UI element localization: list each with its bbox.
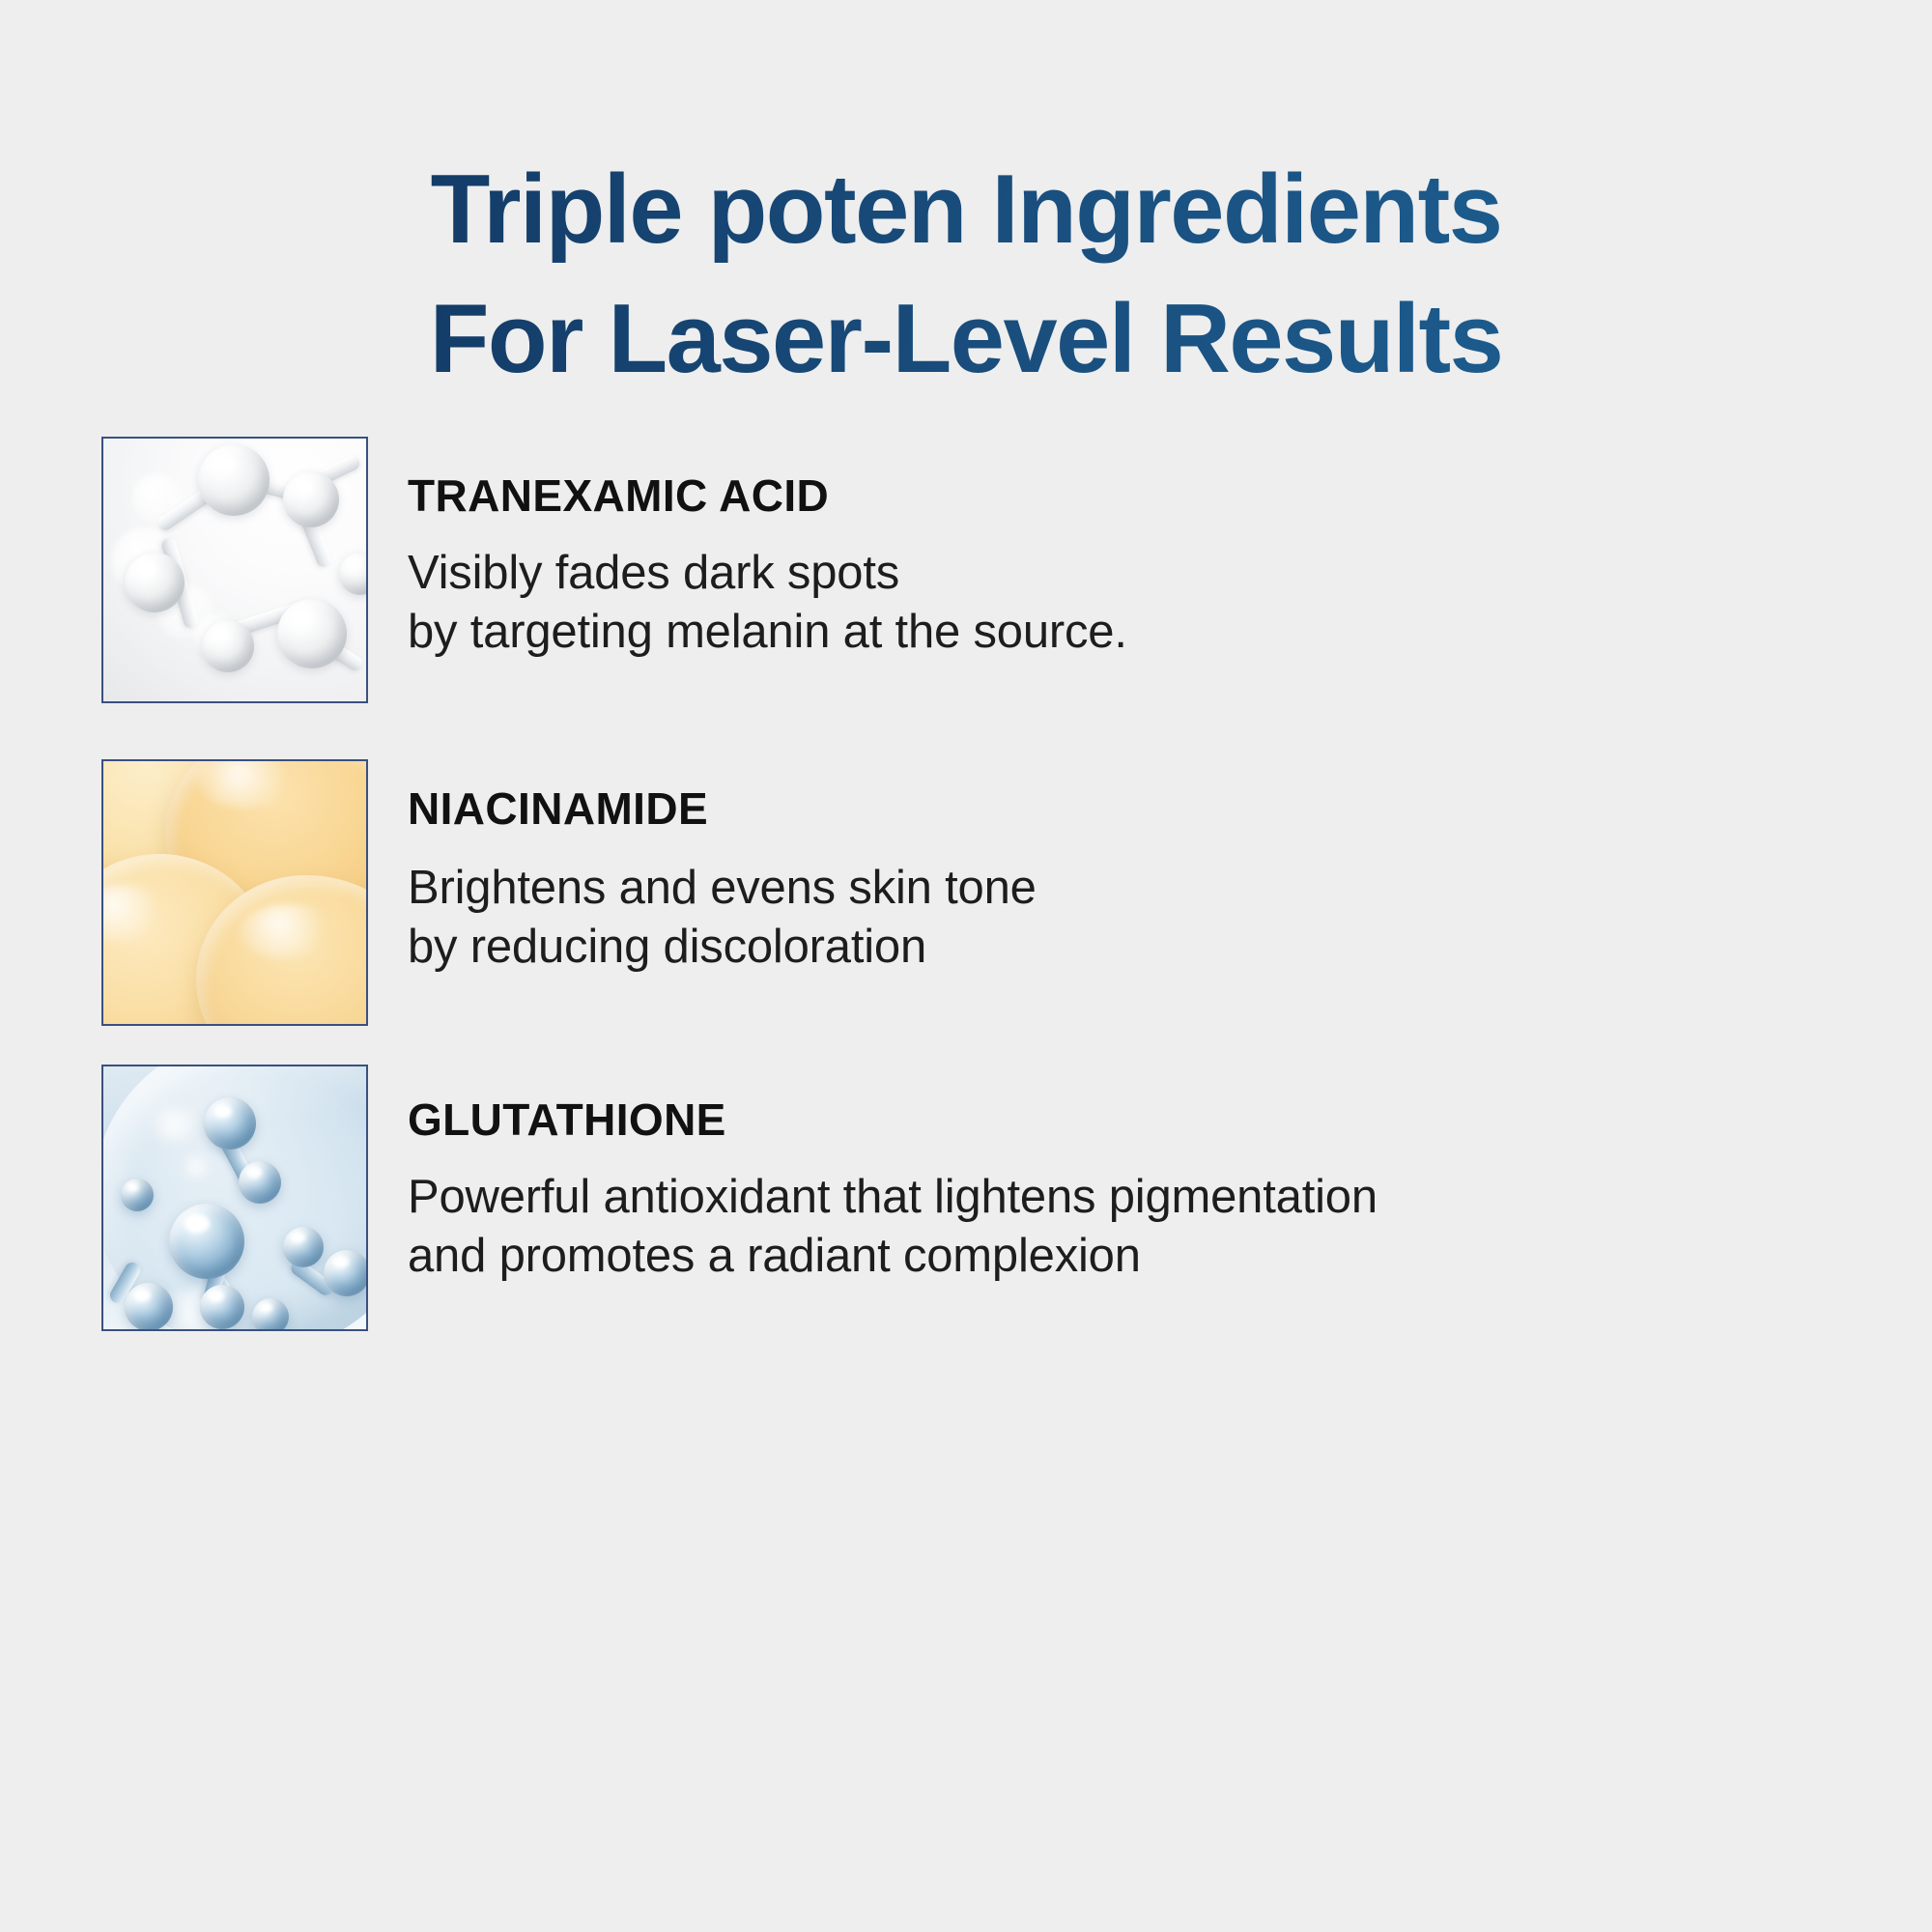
serum-droplets-image bbox=[103, 761, 366, 1024]
ingredient-description: Visibly fades dark spots by targeting me… bbox=[408, 544, 1840, 663]
ingredient-name: TRANEXAMIC ACID bbox=[408, 471, 1840, 521]
ingredient-description: Powerful antioxidant that lightens pigme… bbox=[408, 1168, 1840, 1287]
ingredient-description: Brightens and evens skin tone by reducin… bbox=[408, 859, 1840, 978]
ingredient-description-line-1: Brightens and evens skin tone bbox=[408, 859, 1840, 919]
ingredient-row-niacinamide: NIACINAMIDE Brightens and evens skin ton… bbox=[101, 759, 1840, 1030]
ingredient-row-tranexamic-acid: TRANEXAMIC ACID Visibly fades dark spots… bbox=[101, 437, 1840, 707]
molecule-clear-image bbox=[103, 439, 366, 701]
ingredient-copy: TRANEXAMIC ACID Visibly fades dark spots… bbox=[408, 437, 1840, 663]
niacinamide-thumbnail bbox=[101, 759, 368, 1026]
ingredient-description-line-1: Visibly fades dark spots bbox=[408, 544, 1840, 604]
molecule-blue-image bbox=[103, 1066, 366, 1329]
ingredient-description-line-2: by reducing discoloration bbox=[408, 918, 1840, 978]
ingredient-name: GLUTATHIONE bbox=[408, 1095, 1840, 1145]
ingredient-row-glutathione: GLUTATHIONE Powerful antioxidant that li… bbox=[101, 1065, 1840, 1335]
ingredient-description-line-2: and promotes a radiant complexion bbox=[408, 1227, 1840, 1287]
ingredient-list: TRANEXAMIC ACID Visibly fades dark spots… bbox=[0, 0, 1932, 1932]
tranexamic-acid-thumbnail bbox=[101, 437, 368, 703]
ingredient-copy: NIACINAMIDE Brightens and evens skin ton… bbox=[408, 759, 1840, 978]
ingredient-description-line-2: by targeting melanin at the source. bbox=[408, 603, 1840, 663]
ingredient-copy: GLUTATHIONE Powerful antioxidant that li… bbox=[408, 1065, 1840, 1287]
ingredient-description-line-1: Powerful antioxidant that lightens pigme… bbox=[408, 1168, 1840, 1228]
glutathione-thumbnail bbox=[101, 1065, 368, 1331]
ingredient-name: NIACINAMIDE bbox=[408, 784, 1840, 834]
